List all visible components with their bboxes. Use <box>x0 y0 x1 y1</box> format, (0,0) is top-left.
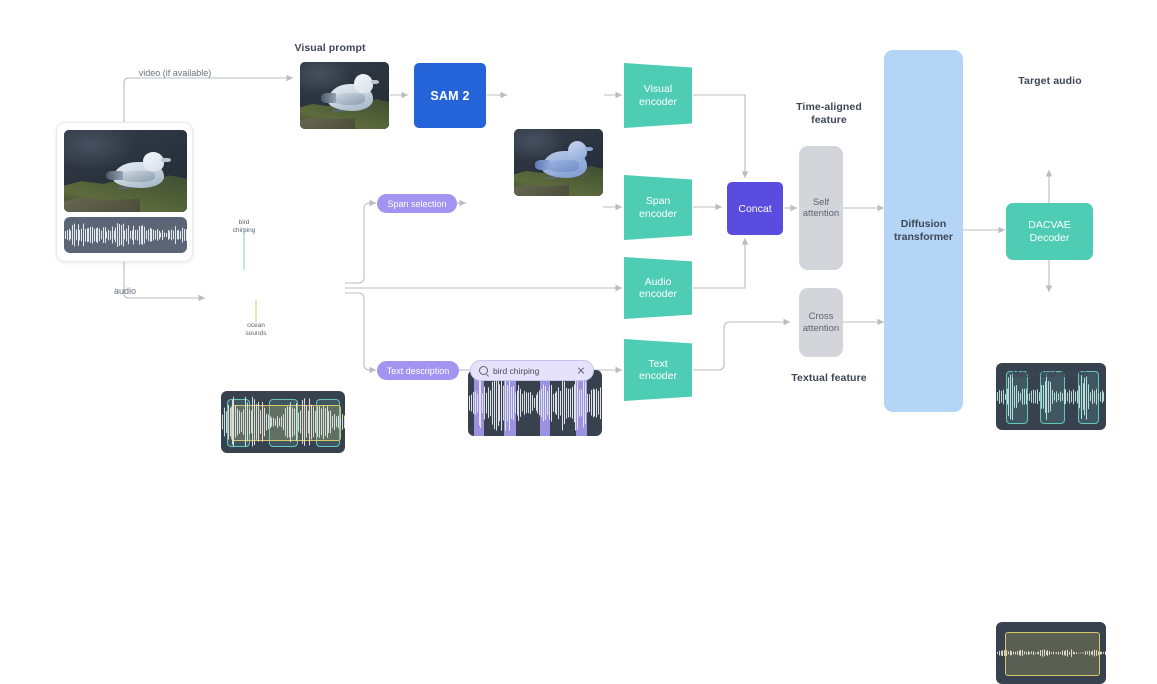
audio-encoder-node[interactable]: Audio encoder <box>624 257 692 319</box>
audio-encoder-label-1: Audio <box>645 276 672 289</box>
sam2-node[interactable]: SAM 2 <box>414 63 486 128</box>
visual-prompt-caption: Visual prompt <box>266 42 394 55</box>
input-audio-waveform <box>64 217 187 253</box>
self-attention-label-1: Self <box>813 197 829 209</box>
textual-feature-caption: Textual feature <box>770 372 888 385</box>
time-aligned-feature-caption: Time-aligned feature <box>770 101 888 126</box>
diffusion-transformer-node[interactable]: Diffusion transformer <box>884 50 963 412</box>
text-encoder-label-2: encoder <box>639 370 677 383</box>
visual-prompt-thumbnail[interactable] <box>300 62 389 129</box>
audio-timeline-clip[interactable] <box>221 391 345 453</box>
residual-audio-waveform[interactable] <box>996 622 1106 684</box>
diffusion-label-1: Diffusion <box>901 218 947 231</box>
span-encoder-label-1: Span <box>646 195 671 208</box>
visual-encoder-node[interactable]: Visual encoder <box>624 63 692 128</box>
cross-attention-label-1: Cross <box>809 311 834 323</box>
visual-encoder-label-1: Visual <box>644 83 672 96</box>
text-description-pill[interactable]: Text description <box>377 361 459 380</box>
span-encoder-node[interactable]: Span encoder <box>624 175 692 240</box>
diffusion-label-2: transformer <box>894 231 953 244</box>
residual-audio-caption: Residual audio <box>988 368 1112 381</box>
edge-label-audio: audio <box>92 286 158 297</box>
self-attention-node[interactable]: Self attention <box>799 146 843 270</box>
input-video-thumbnail <box>64 130 187 212</box>
audio-encoder-label-2: encoder <box>639 288 677 301</box>
text-query-input[interactable]: bird chirping <box>470 360 594 381</box>
search-icon <box>479 366 488 375</box>
ocean-sounds-annotation: ocean sounds <box>230 322 282 338</box>
dacvae-label-2: Decoder <box>1030 232 1070 245</box>
concat-node[interactable]: Concat <box>727 182 783 235</box>
span-encoder-label-2: encoder <box>639 208 677 221</box>
dacvae-decoder-node[interactable]: DACVAE Decoder <box>1006 203 1093 260</box>
bird-chirping-annotation: bird chirping <box>218 219 270 235</box>
pipeline-diagram: audio video (if available) Visual prompt… <box>0 0 1157 431</box>
target-audio-caption: Target audio <box>988 75 1112 88</box>
cross-attention-node[interactable]: Cross attention <box>799 288 843 357</box>
text-encoder-label-1: Text <box>648 358 667 371</box>
dacvae-label-1: DACVAE <box>1028 219 1070 232</box>
text-encoder-node[interactable]: Text encoder <box>624 339 692 401</box>
segmented-frame-thumbnail[interactable] <box>514 129 603 196</box>
input-media-card <box>56 122 193 262</box>
span-selection-pill[interactable]: Span selection <box>377 194 457 213</box>
self-attention-label-2: attention <box>803 208 839 220</box>
visual-encoder-label-2: encoder <box>639 96 677 109</box>
close-icon[interactable] <box>577 367 585 375</box>
edge-label-video: video (if available) <box>116 68 234 79</box>
text-query-value[interactable]: bird chirping <box>493 366 572 376</box>
cross-attention-label-2: attention <box>803 323 839 335</box>
